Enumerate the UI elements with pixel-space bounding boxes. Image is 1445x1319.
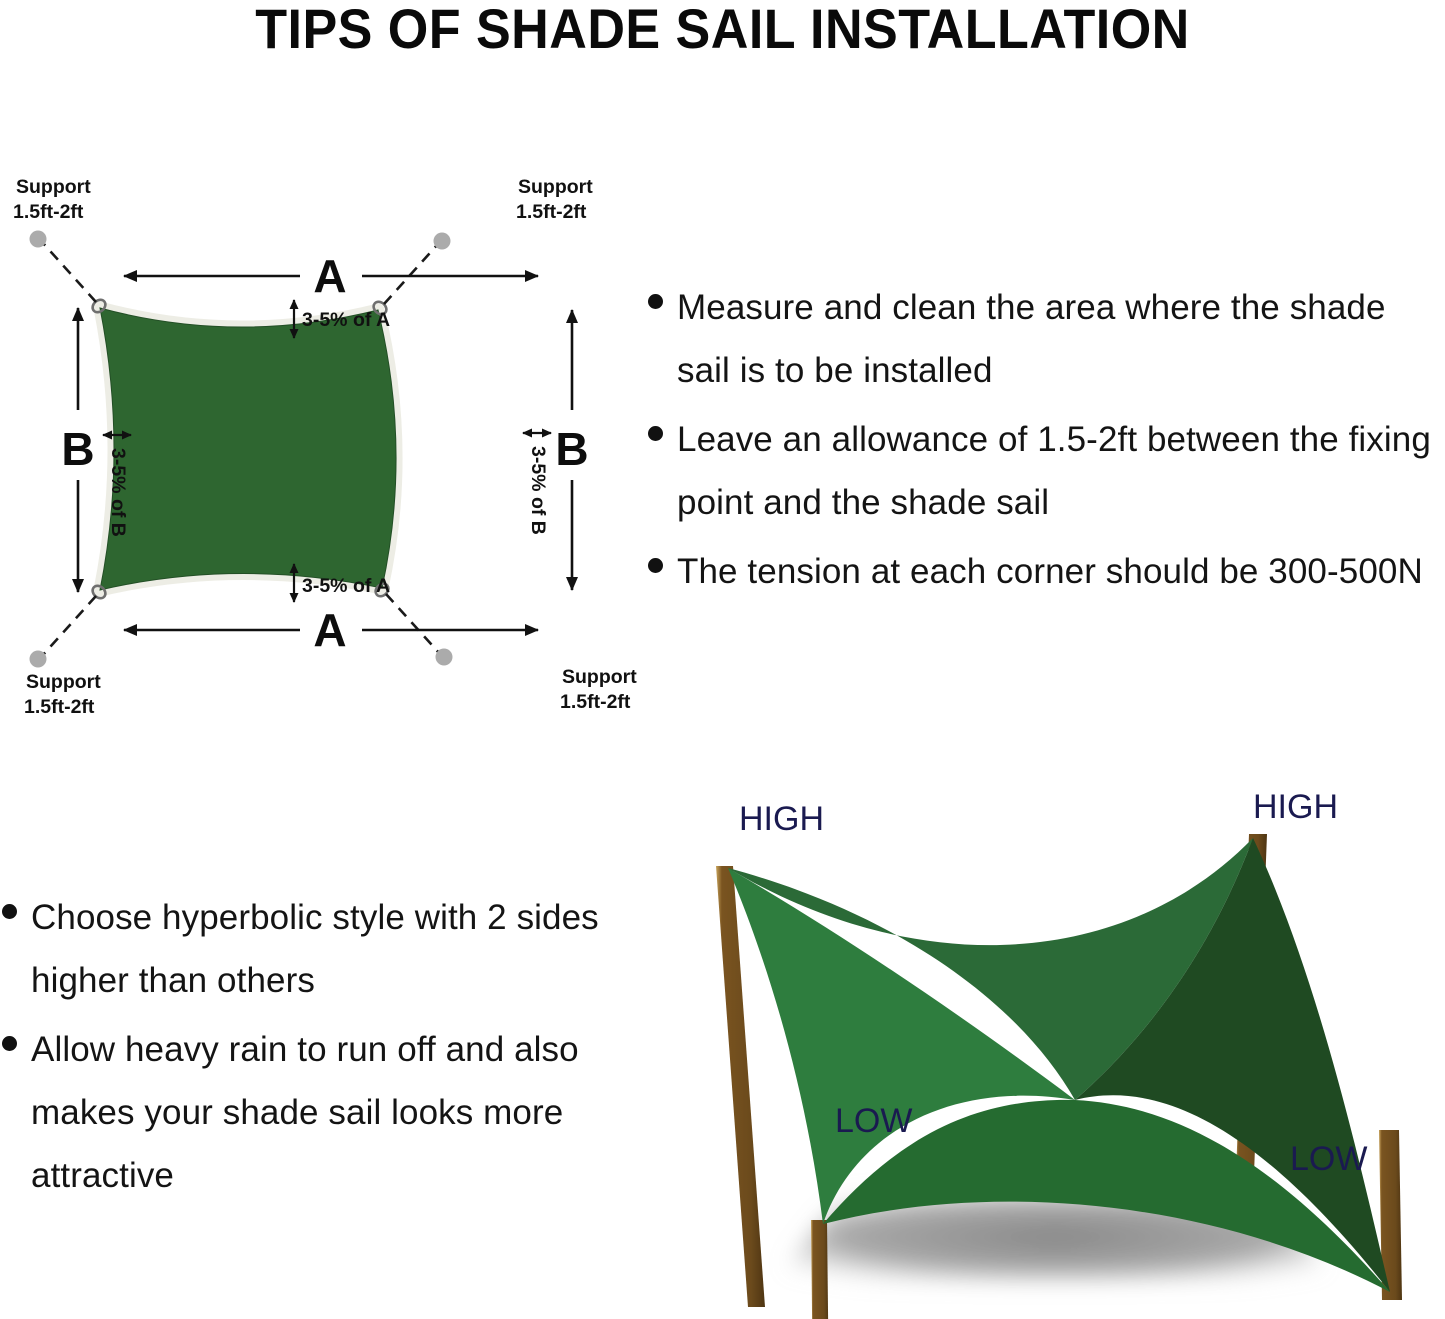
bullet-dot-icon [648,558,663,573]
bullet-dot-icon [648,426,663,441]
curve-label-bottom: 3-5% of A [302,575,390,597]
support-label-bottom-left-line1: Support [26,671,101,693]
curve-label-right: 3-5% of B [527,446,549,535]
bullet-dot-icon [648,294,663,309]
support-dot-top-left [30,231,47,248]
installation-tips-bottom-list: Choose hyperbolic style with 2 sides hig… [2,886,622,1213]
sail-shape [100,308,396,590]
curve-label-top: 3-5% of A [302,309,390,331]
bullet-dot-icon [2,1036,17,1051]
support-label-top-right-line2: 1.5ft-2ft [516,201,587,223]
tip-text: Measure and clean the area where the sha… [677,276,1445,402]
dimension-label-a-bottom: A [313,604,346,656]
support-dot-bottom-right [436,649,453,666]
label-high-right: HIGH [1253,788,1338,826]
support-dot-bottom-left [30,651,47,668]
tip-text: Choose hyperbolic style with 2 sides hig… [31,886,622,1012]
support-dot-top-right [434,233,451,250]
dimension-label-b-left: B [61,423,94,475]
dimension-b-left: B [61,308,94,592]
tip-item: Choose hyperbolic style with 2 sides hig… [2,886,622,1012]
tip-text: Allow heavy rain to run off and also mak… [31,1018,622,1207]
dimension-b-right: B [555,310,588,590]
support-label-bottom-left-line2: 1.5ft-2ft [24,696,95,718]
support-label-top-left-line2: 1.5ft-2ft [13,201,84,223]
hyperbolic-sail-diagram: HIGH HIGH LOW LOW [655,780,1445,1319]
support-label-top-left-line1: Support [16,176,91,198]
installation-tips-top-list: Measure and clean the area where the sha… [648,276,1445,609]
dimension-label-b-right: B [555,423,588,475]
curve-label-left: 3-5% of B [107,448,129,537]
curve-depth-left: 3-5% of B [103,435,131,537]
dimension-a-bottom: A [124,604,538,656]
support-label-bottom-right-line2: 1.5ft-2ft [560,691,631,713]
post-low-left [811,1220,829,1319]
support-label-top-right-line1: Support [518,176,593,198]
dimension-label-a-top: A [313,250,346,302]
rect-sail-diagram: Support 1.5ft-2ft Support 1.5ft-2ft Supp… [0,160,660,730]
curve-depth-right: 3-5% of B [523,433,551,535]
dimension-a-top: A [124,250,538,302]
label-low-right: LOW [1290,1140,1367,1178]
tip-text: The tension at each corner should be 300… [677,540,1423,603]
tip-item: Leave an allowance of 1.5-2ft between th… [648,408,1445,534]
tip-item: Measure and clean the area where the sha… [648,276,1445,402]
label-high-left: HIGH [739,800,824,838]
page-title: TIPS OF SHADE SAIL INSTALLATION [51,0,1395,60]
label-low-left: LOW [835,1102,912,1140]
tip-item: Allow heavy rain to run off and also mak… [2,1018,622,1207]
support-label-bottom-right-line1: Support [562,666,637,688]
tip-item: The tension at each corner should be 300… [648,540,1445,603]
tip-text: Leave an allowance of 1.5-2ft between th… [677,408,1445,534]
bullet-dot-icon [2,904,17,919]
